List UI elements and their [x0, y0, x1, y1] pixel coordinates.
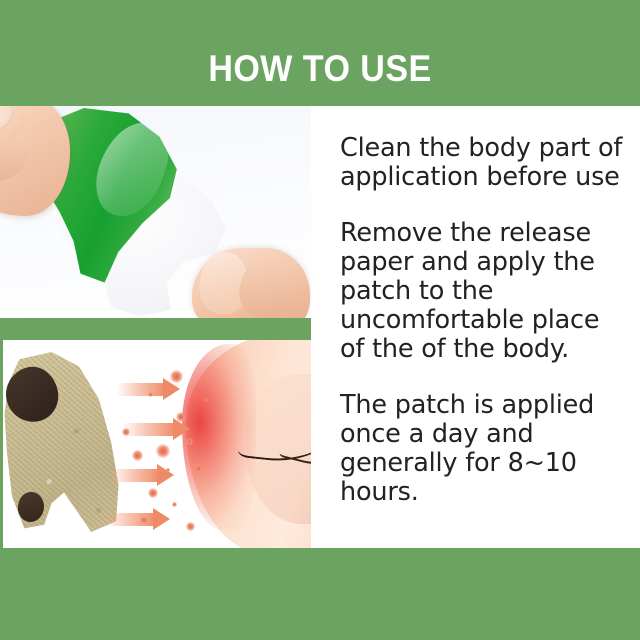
arrow-head: [157, 464, 174, 486]
instruction-step-3: The patch is applied once a day and gene…: [340, 391, 630, 507]
arrow-head: [153, 508, 170, 530]
green-divider-strip: [0, 318, 311, 340]
effect-arrow-4: [106, 508, 170, 530]
medicine-particle: [140, 516, 148, 524]
hand-lower: [192, 248, 310, 318]
illustration-peel-release-paper: [0, 106, 311, 318]
fingernail-shape: [0, 106, 19, 137]
effect-arrow-3: [112, 464, 174, 486]
medicine-particle: [194, 464, 203, 473]
page-title: HOW TO USE: [26, 50, 615, 87]
instruction-step-1: Clean the body part of application befor…: [340, 134, 630, 192]
medicine-particle: [156, 444, 170, 458]
panel-left-edge: [0, 340, 3, 548]
medicine-particle: [186, 522, 195, 531]
medicine-particle: [170, 370, 183, 383]
medicine-particle: [148, 488, 158, 498]
medicine-particle: [148, 392, 153, 397]
medicine-particle: [172, 502, 177, 507]
arrow-shaft: [118, 383, 164, 396]
medicine-particle: [176, 412, 186, 422]
instruction-step-2: Remove the release paper and apply the p…: [340, 219, 630, 364]
medicine-particle: [186, 438, 193, 445]
instructions-panel: Clean the body part of application befor…: [311, 106, 640, 548]
instructions-text-column: Clean the body part of application befor…: [340, 134, 630, 507]
medicine-particle: [204, 398, 208, 402]
arrow-shaft: [124, 423, 174, 436]
medicine-particle: [132, 450, 143, 461]
medicine-particle: [166, 468, 170, 472]
header-band: HOW TO USE: [0, 0, 640, 106]
illustration-patch-on-knee: [0, 340, 311, 548]
arrow-shaft: [112, 469, 158, 482]
how-to-use-infographic: HOW TO USE: [0, 0, 640, 640]
medicine-particle: [122, 428, 130, 436]
